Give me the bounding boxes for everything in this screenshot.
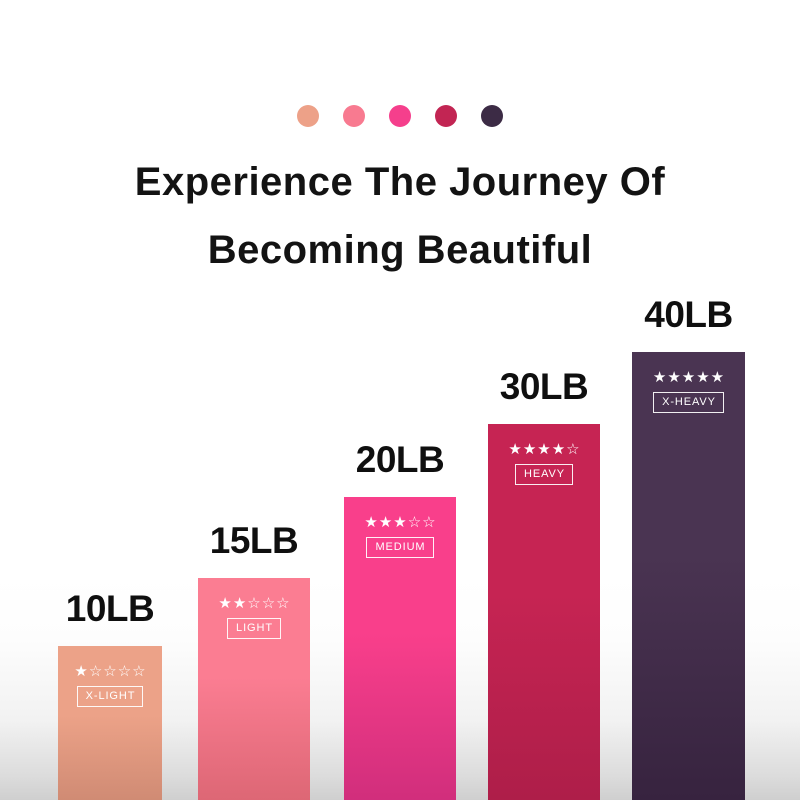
star-filled-icon: ★ [711, 370, 724, 385]
star-empty-icon: ☆ [132, 664, 145, 679]
star-filled-icon: ★ [552, 442, 565, 457]
star-empty-icon: ☆ [276, 596, 289, 611]
resistance-level-badge: HEAVY [515, 464, 573, 485]
bar-weight-label: 30LB [488, 368, 600, 405]
rating-stars: ★★☆☆☆ [218, 596, 289, 611]
bar-weight-label: 20LB [344, 441, 456, 478]
star-empty-icon: ☆ [566, 442, 579, 457]
star-filled-icon: ★ [682, 370, 695, 385]
bar-weight-label: 40LB [632, 296, 745, 333]
resistance-level-badge: X-LIGHT [77, 686, 144, 707]
rating-stars: ★☆☆☆☆ [74, 664, 145, 679]
product-infographic: Experience The Journey Of Becoming Beaut… [0, 0, 800, 800]
bar-weight-label: 15LB [198, 522, 310, 559]
star-empty-icon: ☆ [247, 596, 260, 611]
band-medium[interactable]: 20LB★★★☆☆MEDIUM [344, 441, 456, 800]
resistance-bar-chart: 10LB★☆☆☆☆X-LIGHT15LB★★☆☆☆LIGHT20LB★★★☆☆M… [0, 0, 800, 800]
rating-stars: ★★★☆☆ [364, 515, 435, 530]
bar-body[interactable]: ★★☆☆☆LIGHT [198, 578, 310, 800]
band-heavy[interactable]: 30LB★★★★☆HEAVY [488, 368, 600, 800]
star-filled-icon: ★ [364, 515, 377, 530]
star-empty-icon: ☆ [408, 515, 421, 530]
star-filled-icon: ★ [379, 515, 392, 530]
star-filled-icon: ★ [218, 596, 231, 611]
band-x-light[interactable]: 10LB★☆☆☆☆X-LIGHT [58, 590, 162, 800]
star-filled-icon: ★ [653, 370, 666, 385]
bar-badge-stack: ★★☆☆☆LIGHT [198, 596, 310, 639]
bar-body[interactable]: ★★★★☆HEAVY [488, 424, 600, 800]
star-filled-icon: ★ [667, 370, 680, 385]
band-x-heavy[interactable]: 40LB★★★★★X-HEAVY [632, 296, 745, 800]
rating-stars: ★★★★☆ [508, 442, 579, 457]
star-empty-icon: ☆ [103, 664, 116, 679]
star-empty-icon: ☆ [118, 664, 131, 679]
bar-weight-label: 10LB [58, 590, 162, 627]
resistance-level-badge: X-HEAVY [653, 392, 724, 413]
rating-stars: ★★★★★ [653, 370, 724, 385]
bar-body[interactable]: ★★★★★X-HEAVY [632, 352, 745, 800]
bar-body[interactable]: ★☆☆☆☆X-LIGHT [58, 646, 162, 800]
bar-badge-stack: ★★★★★X-HEAVY [632, 370, 745, 413]
bar-badge-stack: ★★★★☆HEAVY [488, 442, 600, 485]
star-filled-icon: ★ [696, 370, 709, 385]
star-filled-icon: ★ [508, 442, 521, 457]
star-empty-icon: ☆ [262, 596, 275, 611]
star-filled-icon: ★ [393, 515, 406, 530]
star-filled-icon: ★ [523, 442, 536, 457]
resistance-level-badge: LIGHT [227, 618, 281, 639]
bar-body[interactable]: ★★★☆☆MEDIUM [344, 497, 456, 800]
star-filled-icon: ★ [233, 596, 246, 611]
bar-badge-stack: ★☆☆☆☆X-LIGHT [58, 664, 162, 707]
bar-badge-stack: ★★★☆☆MEDIUM [344, 515, 456, 558]
resistance-level-badge: MEDIUM [366, 537, 433, 558]
star-filled-icon: ★ [74, 664, 87, 679]
band-light[interactable]: 15LB★★☆☆☆LIGHT [198, 522, 310, 800]
star-filled-icon: ★ [537, 442, 550, 457]
star-empty-icon: ☆ [89, 664, 102, 679]
star-empty-icon: ☆ [422, 515, 435, 530]
